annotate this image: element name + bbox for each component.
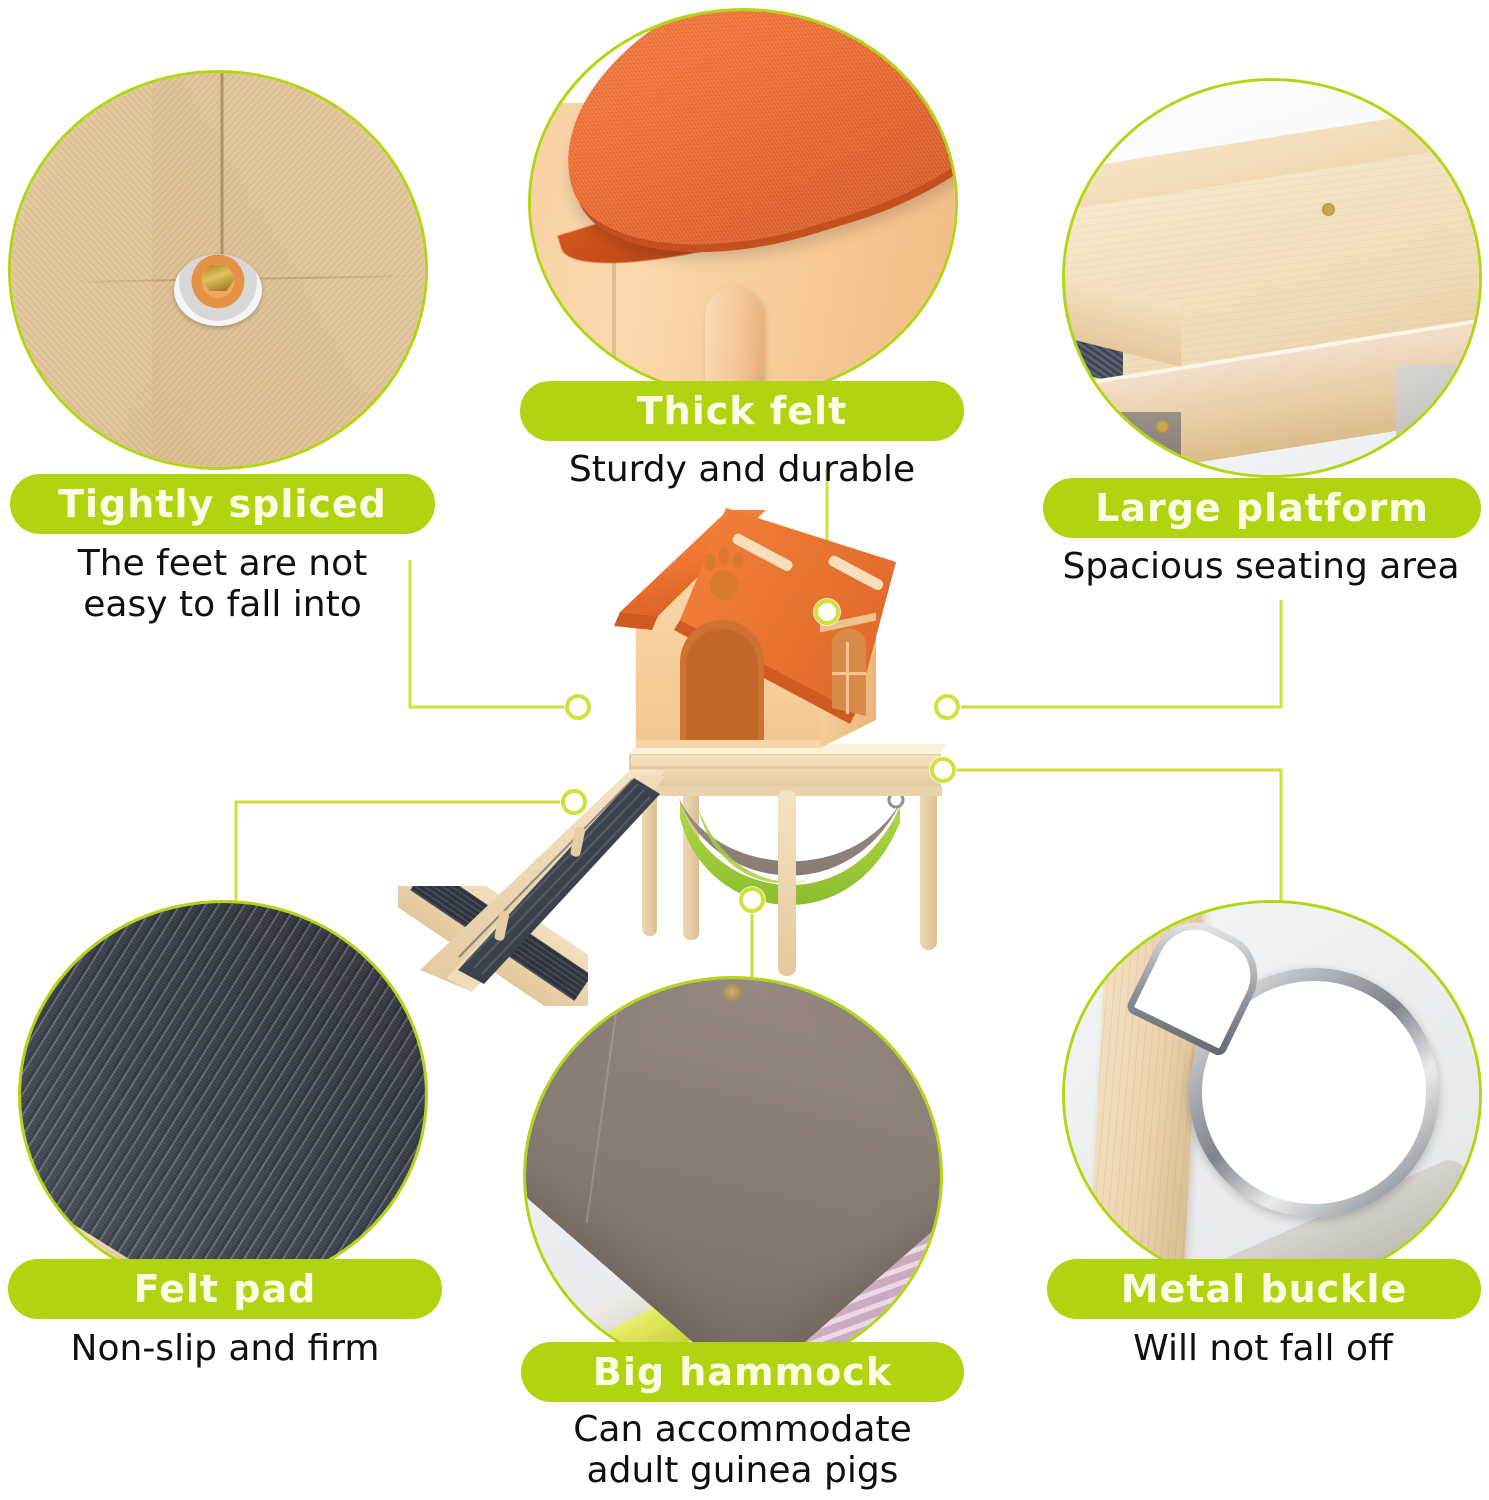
dot-big-hammock[interactable] — [739, 887, 765, 913]
caption-large-platform: Spacious seating area — [1033, 546, 1489, 587]
label-metal-buckle: Metal buckle — [1047, 1259, 1481, 1319]
product-illustration — [380, 470, 1080, 1030]
photo-large-platform — [1062, 78, 1482, 478]
photo-metal-buckle — [1062, 900, 1482, 1290]
caption-metal-buckle: Will not fall off — [1040, 1328, 1486, 1369]
label-big-hammock: Big hammock — [521, 1342, 964, 1402]
dot-tightly-spliced[interactable] — [565, 694, 591, 720]
caption-big-hammock: Can accommodate adult guinea pigs — [511, 1409, 974, 1492]
label-felt-pad: Felt pad — [8, 1259, 442, 1319]
label-large-platform: Large platform — [1043, 478, 1481, 538]
label-tightly-spliced: Tightly spliced — [10, 474, 435, 534]
photo-big-hammock — [523, 976, 943, 1376]
dot-metal-buckle[interactable] — [930, 757, 956, 783]
dot-thick-felt[interactable] — [814, 599, 840, 625]
screw-icon — [174, 254, 262, 326]
caption-felt-pad: Non-slip and firm — [8, 1328, 442, 1369]
caption-thick-felt: Sturdy and durable — [510, 449, 974, 490]
dot-felt-pad[interactable] — [561, 789, 587, 815]
label-thick-felt: Thick felt — [520, 381, 964, 441]
infographic-canvas: Tightly spliced The feet are not easy to… — [0, 0, 1489, 1500]
photo-thick-felt — [528, 8, 958, 398]
caption-tightly-spliced: The feet are not easy to fall into — [10, 543, 435, 626]
photo-felt-pad — [18, 900, 428, 1290]
dot-large-platform[interactable] — [934, 694, 960, 720]
photo-tightly-spliced — [8, 70, 428, 470]
